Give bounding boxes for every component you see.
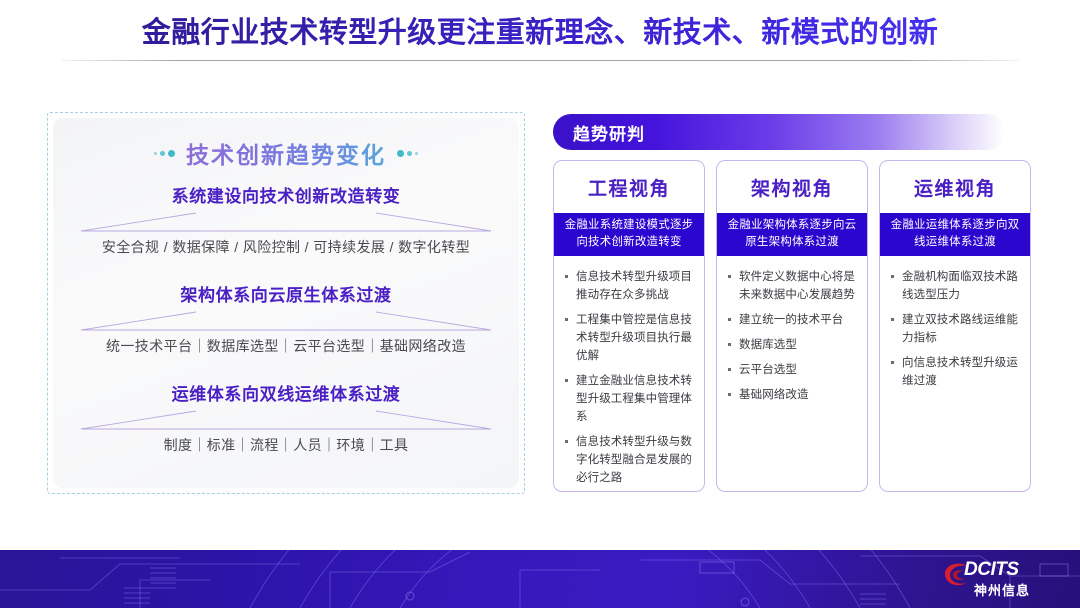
logo-chinese-name: 神州信息 — [974, 580, 1030, 599]
list-item: 建立金融业信息技术转型升级工程集中管理体系 — [563, 372, 695, 426]
list-item: 工程集中管控是信息技术转型升级项目执行最优解 — [563, 311, 695, 365]
list-item: 金融机构面临双技术路线选型压力 — [889, 268, 1021, 304]
tech-trend-panel-inner: 技术创新趋势变化 系统建设向技术创新改造转变 安全合规 / 数据保障 / 风险控… — [53, 118, 519, 488]
trend-block: 系统建设向技术创新改造转变 安全合规 / 数据保障 / 风险控制 / 可持续发展… — [67, 184, 505, 259]
tech-trend-heading: 技术创新趋势变化 — [67, 136, 505, 170]
list-item: 向信息技术转型升级运维过渡 — [889, 354, 1021, 390]
list-item: 信息技术转型升级与数字化转型融合是发展的必行之路 — [563, 433, 695, 487]
trend-items: 制度｜标准｜流程｜人员｜环境｜工具 — [67, 433, 505, 457]
logo-wordmark: DCITS — [964, 559, 1019, 581]
card-title: 运维视角 — [880, 161, 1030, 213]
view-cards-row: 工程视角 金融业系统建设模式逐步向技术创新改造转变 信息技术转型升级项目推动存在… — [553, 160, 1033, 492]
card-body: 金融机构面临双技术路线选型压力 建立双技术路线运维能力指标 向信息技术转型升级运… — [880, 256, 1030, 491]
card-title: 工程视角 — [554, 161, 704, 213]
title-divider — [62, 60, 1018, 61]
tech-trend-heading-label: 技术创新趋势变化 — [186, 136, 386, 170]
list-item: 云平台选型 — [726, 361, 858, 379]
trend-analysis-banner-label: 趋势研判 — [553, 120, 645, 145]
three-dots-descending-icon — [397, 150, 418, 157]
list-item: 建立双技术路线运维能力指标 — [889, 311, 1021, 347]
view-card-architecture[interactable]: 架构视角 金融业架构体系逐步向云原生架构体系过渡 软件定义数据中心将是未来数据中… — [716, 160, 868, 492]
slide-footer: DCITS 神州信息 — [0, 550, 1080, 608]
trend-items: 统一技术平台｜数据库选型｜云平台选型｜基础网络改造 — [67, 334, 505, 358]
trend-block: 运维体系向双线运维体系过渡 制度｜标准｜流程｜人员｜环境｜工具 — [67, 382, 505, 457]
card-body: 信息技术转型升级项目推动存在众多挑战 工程集中管控是信息技术转型升级项目执行最优… — [554, 256, 704, 492]
page-title: 金融行业技术转型升级更注重新理念、新技术、新模式的创新 — [0, 13, 1080, 53]
card-subtitle: 金融业系统建设模式逐步向技术创新改造转变 — [554, 213, 704, 256]
funnel-separator-icon — [71, 311, 501, 333]
trend-title: 架构体系向云原生体系过渡 — [67, 283, 505, 309]
trend-title: 系统建设向技术创新改造转变 — [67, 184, 505, 210]
circuit-pattern-decoration — [0, 550, 1080, 608]
list-item: 软件定义数据中心将是未来数据中心发展趋势 — [726, 268, 858, 304]
tech-trend-panel: 技术创新趋势变化 系统建设向技术创新改造转变 安全合规 / 数据保障 / 风险控… — [47, 112, 525, 494]
three-dots-ascending-icon — [154, 150, 175, 157]
dcits-logo: DCITS 神州信息 — [942, 556, 1064, 602]
list-item: 建立统一的技术平台 — [726, 311, 858, 329]
trend-analysis-panel: 趋势研判 工程视角 金融业系统建设模式逐步向技术创新改造转变 信息技术转型升级项… — [553, 114, 1033, 500]
view-card-operations[interactable]: 运维视角 金融业运维体系逐步向双线运维体系过渡 金融机构面临双技术路线选型压力 … — [879, 160, 1031, 492]
trend-analysis-banner: 趋势研判 — [553, 114, 1005, 150]
trend-items: 安全合规 / 数据保障 / 风险控制 / 可持续发展 / 数字化转型 — [67, 235, 505, 259]
funnel-separator-icon — [71, 212, 501, 234]
card-body: 软件定义数据中心将是未来数据中心发展趋势 建立统一的技术平台 数据库选型 云平台… — [717, 256, 867, 491]
trend-block: 架构体系向云原生体系过渡 统一技术平台｜数据库选型｜云平台选型｜基础网络改造 — [67, 283, 505, 358]
spacer — [67, 263, 505, 283]
list-item: 数据库选型 — [726, 336, 858, 354]
trend-title: 运维体系向双线运维体系过渡 — [67, 382, 505, 408]
card-subtitle: 金融业架构体系逐步向云原生架构体系过渡 — [717, 213, 867, 256]
funnel-separator-icon — [71, 410, 501, 432]
list-item: 信息技术转型升级项目推动存在众多挑战 — [563, 268, 695, 304]
list-item: 基础网络改造 — [726, 386, 858, 404]
slide-header: 金融行业技术转型升级更注重新理念、新技术、新模式的创新 — [0, 0, 1080, 66]
spacer — [67, 362, 505, 382]
card-subtitle: 金融业运维体系逐步向双线运维体系过渡 — [880, 213, 1030, 256]
card-title: 架构视角 — [717, 161, 867, 213]
view-card-engineering[interactable]: 工程视角 金融业系统建设模式逐步向技术创新改造转变 信息技术转型升级项目推动存在… — [553, 160, 705, 492]
